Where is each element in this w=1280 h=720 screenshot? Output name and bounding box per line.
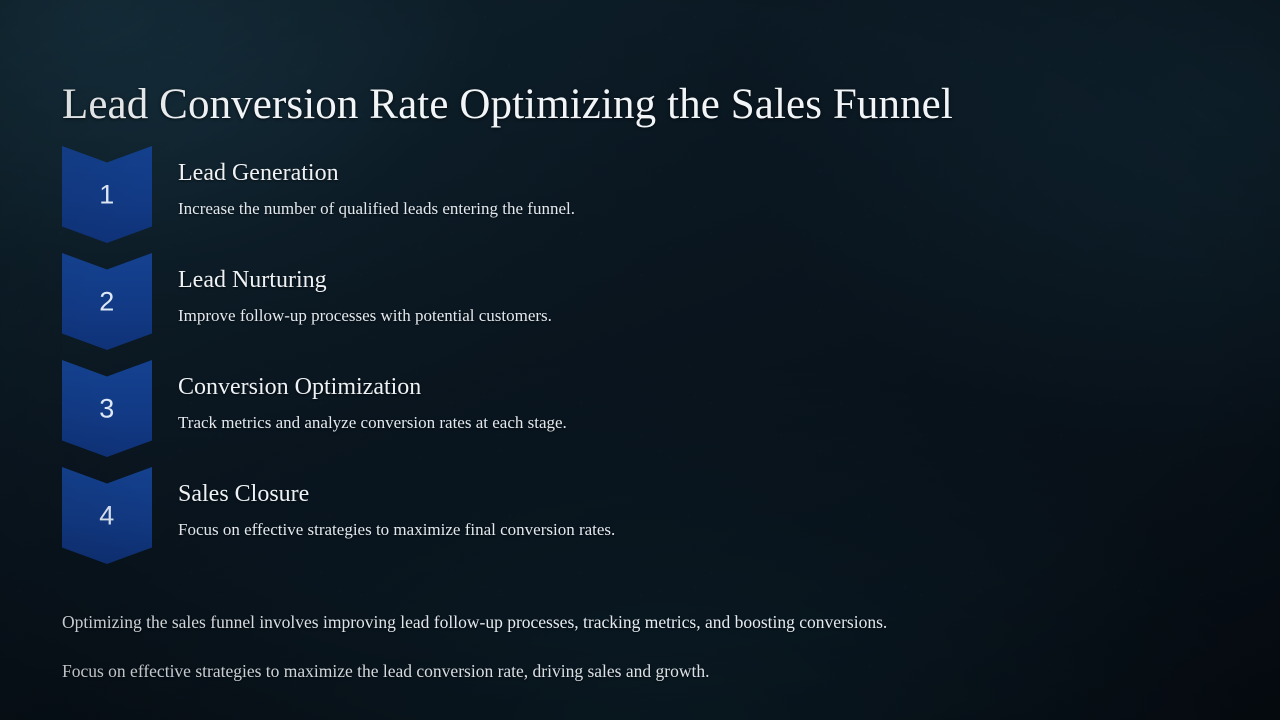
summary-paragraphs: Optimizing the sales funnel involves imp…: [62, 592, 1220, 700]
list-item[interactable]: 2 Lead Nurturing Improve follow-up proce…: [0, 253, 1280, 360]
step-description: Improve follow-up processes with potenti…: [178, 304, 1220, 327]
step-content: Sales Closure Focus on effective strateg…: [178, 479, 1220, 541]
step-description: Focus on effective strategies to maximiz…: [178, 518, 1220, 541]
step-title: Lead Generation: [178, 158, 1220, 188]
chevron-marker-icon: 3: [62, 360, 152, 457]
step-number: 4: [62, 500, 152, 531]
step-number: 3: [62, 393, 152, 424]
step-content: Conversion Optimization Track metrics an…: [178, 372, 1220, 434]
step-content: Lead Nurturing Improve follow-up process…: [178, 265, 1220, 327]
chevron-marker-icon: 4: [62, 467, 152, 564]
chevron-marker-icon: 1: [62, 146, 152, 243]
summary-paragraph: Optimizing the sales funnel involves imp…: [62, 610, 1220, 634]
step-number: 2: [62, 286, 152, 317]
funnel-step-list: 1 Lead Generation Increase the number of…: [0, 146, 1280, 574]
list-item[interactable]: 4 Sales Closure Focus on effective strat…: [0, 467, 1280, 574]
page-title: Lead Conversion Rate Optimizing the Sale…: [62, 76, 953, 134]
presentation-slide: Lead Conversion Rate Optimizing the Sale…: [0, 0, 1280, 720]
step-title: Lead Nurturing: [178, 265, 1220, 295]
step-title: Conversion Optimization: [178, 372, 1220, 402]
summary-paragraph: Focus on effective strategies to maximiz…: [62, 659, 1220, 683]
chevron-marker-icon: 2: [62, 253, 152, 350]
list-item[interactable]: 1 Lead Generation Increase the number of…: [0, 146, 1280, 253]
step-title: Sales Closure: [178, 479, 1220, 509]
step-content: Lead Generation Increase the number of q…: [178, 158, 1220, 220]
list-item[interactable]: 3 Conversion Optimization Track metrics …: [0, 360, 1280, 467]
step-description: Increase the number of qualified leads e…: [178, 197, 1220, 220]
step-description: Track metrics and analyze conversion rat…: [178, 411, 1220, 434]
step-number: 1: [62, 179, 152, 210]
